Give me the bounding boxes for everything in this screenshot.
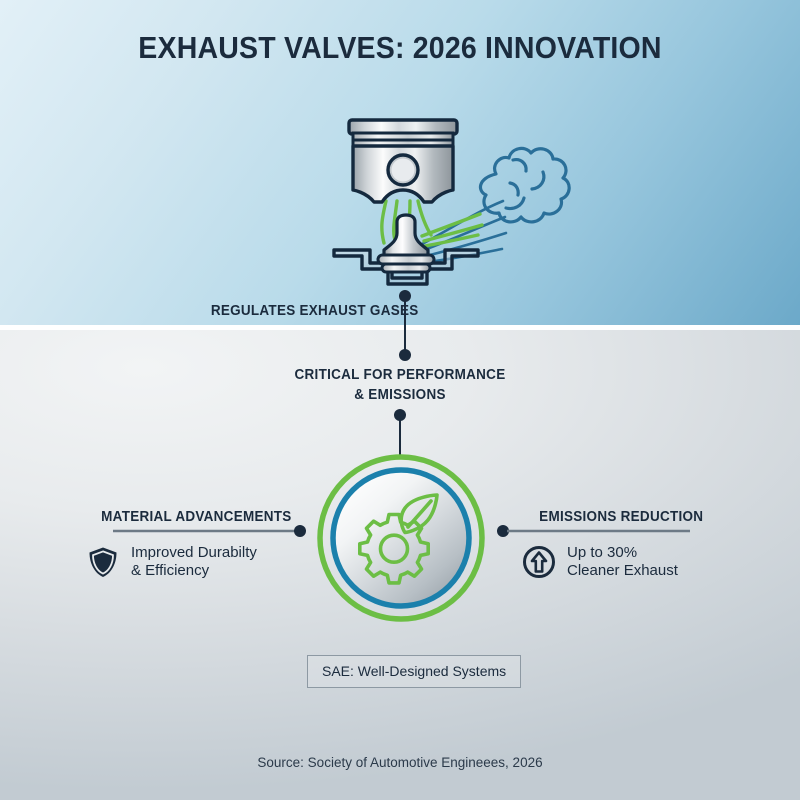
page-title: EXHAUST VALVES: 2026 INNOVATION (32, 30, 768, 66)
left-heading: MATERIAL ADVANCEMENTS (101, 509, 291, 525)
arrow-up-circle-icon (522, 545, 556, 579)
piston (349, 120, 457, 202)
callout-critical-line2: & EMISSIONS (28, 387, 772, 403)
left-stat-text: Improved Durabilty & Efficiency (131, 544, 257, 580)
sae-tag-badge: SAE: Well-Designed Systems (307, 655, 521, 688)
infographic-canvas: EXHAUST VALVES: 2026 INNOVATION (0, 0, 800, 800)
right-heading: EMISSIONS REDUCTION (539, 509, 703, 525)
callout-critical-label: CRITICAL FOR PERFORMANCE & EMISSIONS (0, 367, 800, 403)
callout-regulates-label: REGULATES EXHAUST GASES (211, 303, 419, 319)
right-stat-line2: Cleaner Exhaust (567, 562, 678, 580)
right-stat-text: Up to 30% Cleaner Exhaust (567, 544, 678, 580)
shield-icon (86, 545, 120, 579)
piston-exhaust-valve-illustration (300, 100, 600, 300)
left-stat-line1: Improved Durabilty (131, 544, 257, 562)
left-stat: Improved Durabilty & Efficiency (86, 544, 257, 580)
center-badge[interactable] (315, 452, 487, 624)
exhaust-cloud-icon (480, 148, 569, 222)
left-stat-line2: & Efficiency (131, 562, 257, 580)
right-stat: Up to 30% Cleaner Exhaust (522, 544, 678, 580)
callout-critical-line1: CRITICAL FOR PERFORMANCE (28, 367, 772, 383)
source-line: Source: Society of Automotive Engineees,… (0, 755, 800, 770)
right-stat-line1: Up to 30% (567, 544, 678, 562)
